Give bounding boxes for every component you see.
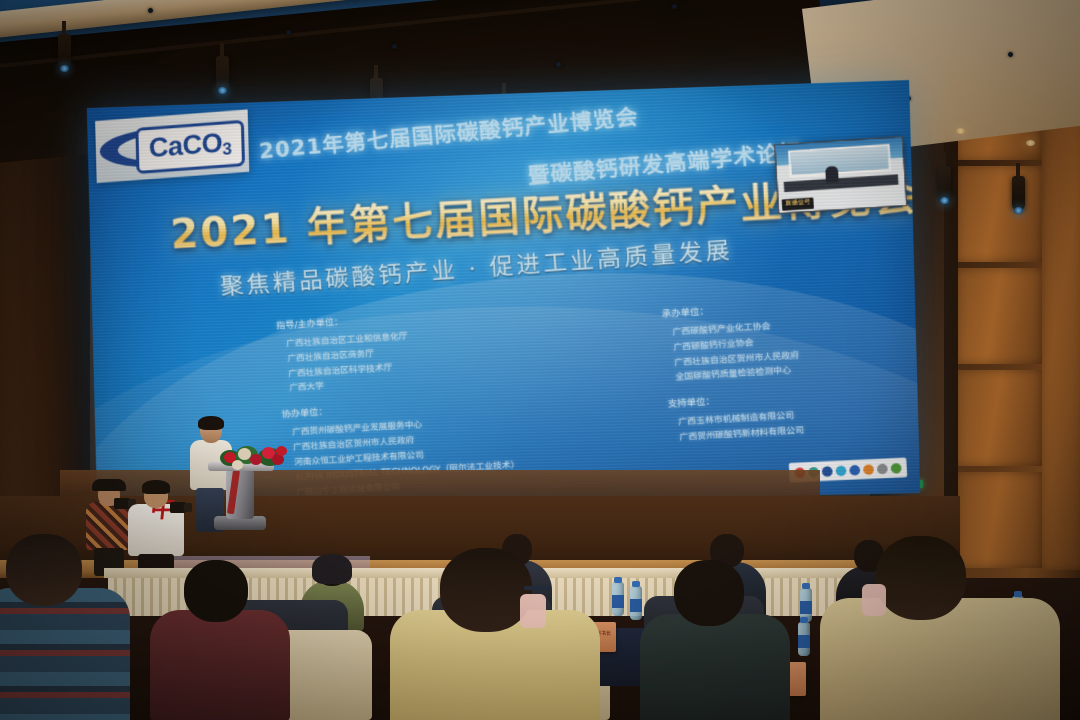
pip-person — [825, 166, 839, 183]
photographer-hat — [92, 479, 126, 491]
conference-hall-photo: CaCO3 2021年第七届国际碳酸钙产业博览会 暨碳酸钙研发高端学术论坛 20… — [0, 0, 1080, 720]
sponsor-icon-blue — [849, 464, 860, 475]
audience-member-foreground-tan — [820, 536, 1060, 720]
audience-torso — [640, 614, 790, 720]
ceiling-fixture — [556, 62, 561, 67]
caco3-logo: CaCO3 — [95, 109, 249, 183]
sponsor-icon-cyan — [835, 465, 846, 476]
audience-torso — [150, 610, 290, 720]
audience-head — [6, 534, 82, 606]
pip-label: 直播信号 — [782, 197, 814, 210]
stage-light — [938, 166, 951, 200]
audience-torso — [0, 588, 130, 720]
audience-head — [440, 548, 532, 632]
audience-head — [674, 560, 744, 626]
photographer-hair — [142, 480, 170, 494]
sponsor-icon-grey — [877, 463, 888, 474]
water-bottle — [612, 582, 624, 616]
ceiling-fixture — [1008, 52, 1013, 57]
audience-member-foreground — [0, 534, 130, 720]
presenter-hair — [198, 416, 224, 430]
picture-in-picture-feed: 直播信号 — [774, 136, 907, 214]
eyeglasses — [524, 586, 550, 590]
stage-light — [216, 56, 229, 90]
ceiling-fixture — [148, 8, 153, 13]
flower-arrangement — [216, 440, 296, 476]
ceiling-downlight — [956, 128, 965, 134]
logo-text-sub: 3 — [222, 139, 232, 159]
audience-head-covering — [312, 554, 352, 584]
ceiling-fixture — [286, 30, 291, 35]
face-mask — [520, 594, 546, 628]
water-bottle — [798, 622, 810, 656]
ceiling-fixture — [392, 44, 397, 49]
audience-member-foreground — [150, 560, 290, 720]
face-mask — [862, 584, 886, 616]
logo-text: CaCO3 — [135, 120, 245, 174]
sponsor-icon-green — [891, 462, 902, 473]
sponsor-icon-navy — [822, 466, 833, 477]
ceiling-downlight — [1026, 140, 1035, 146]
audience-member-foreground-yellow — [390, 548, 600, 720]
logo-text-main: CaCO — [148, 128, 222, 164]
audience-member-foreground-dark — [640, 560, 790, 720]
stage-light — [1012, 176, 1025, 210]
stage-light — [58, 34, 71, 68]
audience-head — [184, 560, 248, 622]
ceiling-fixture — [672, 4, 677, 9]
camera — [170, 502, 186, 513]
sponsor-icon-orange — [863, 464, 874, 475]
audience-head — [876, 536, 966, 620]
organizer-column-right: 承办单位： 广西碳酸钙产业化工协会 广西碳酸钙行业协会 广西壮族自治区贺州市人民… — [661, 299, 804, 446]
